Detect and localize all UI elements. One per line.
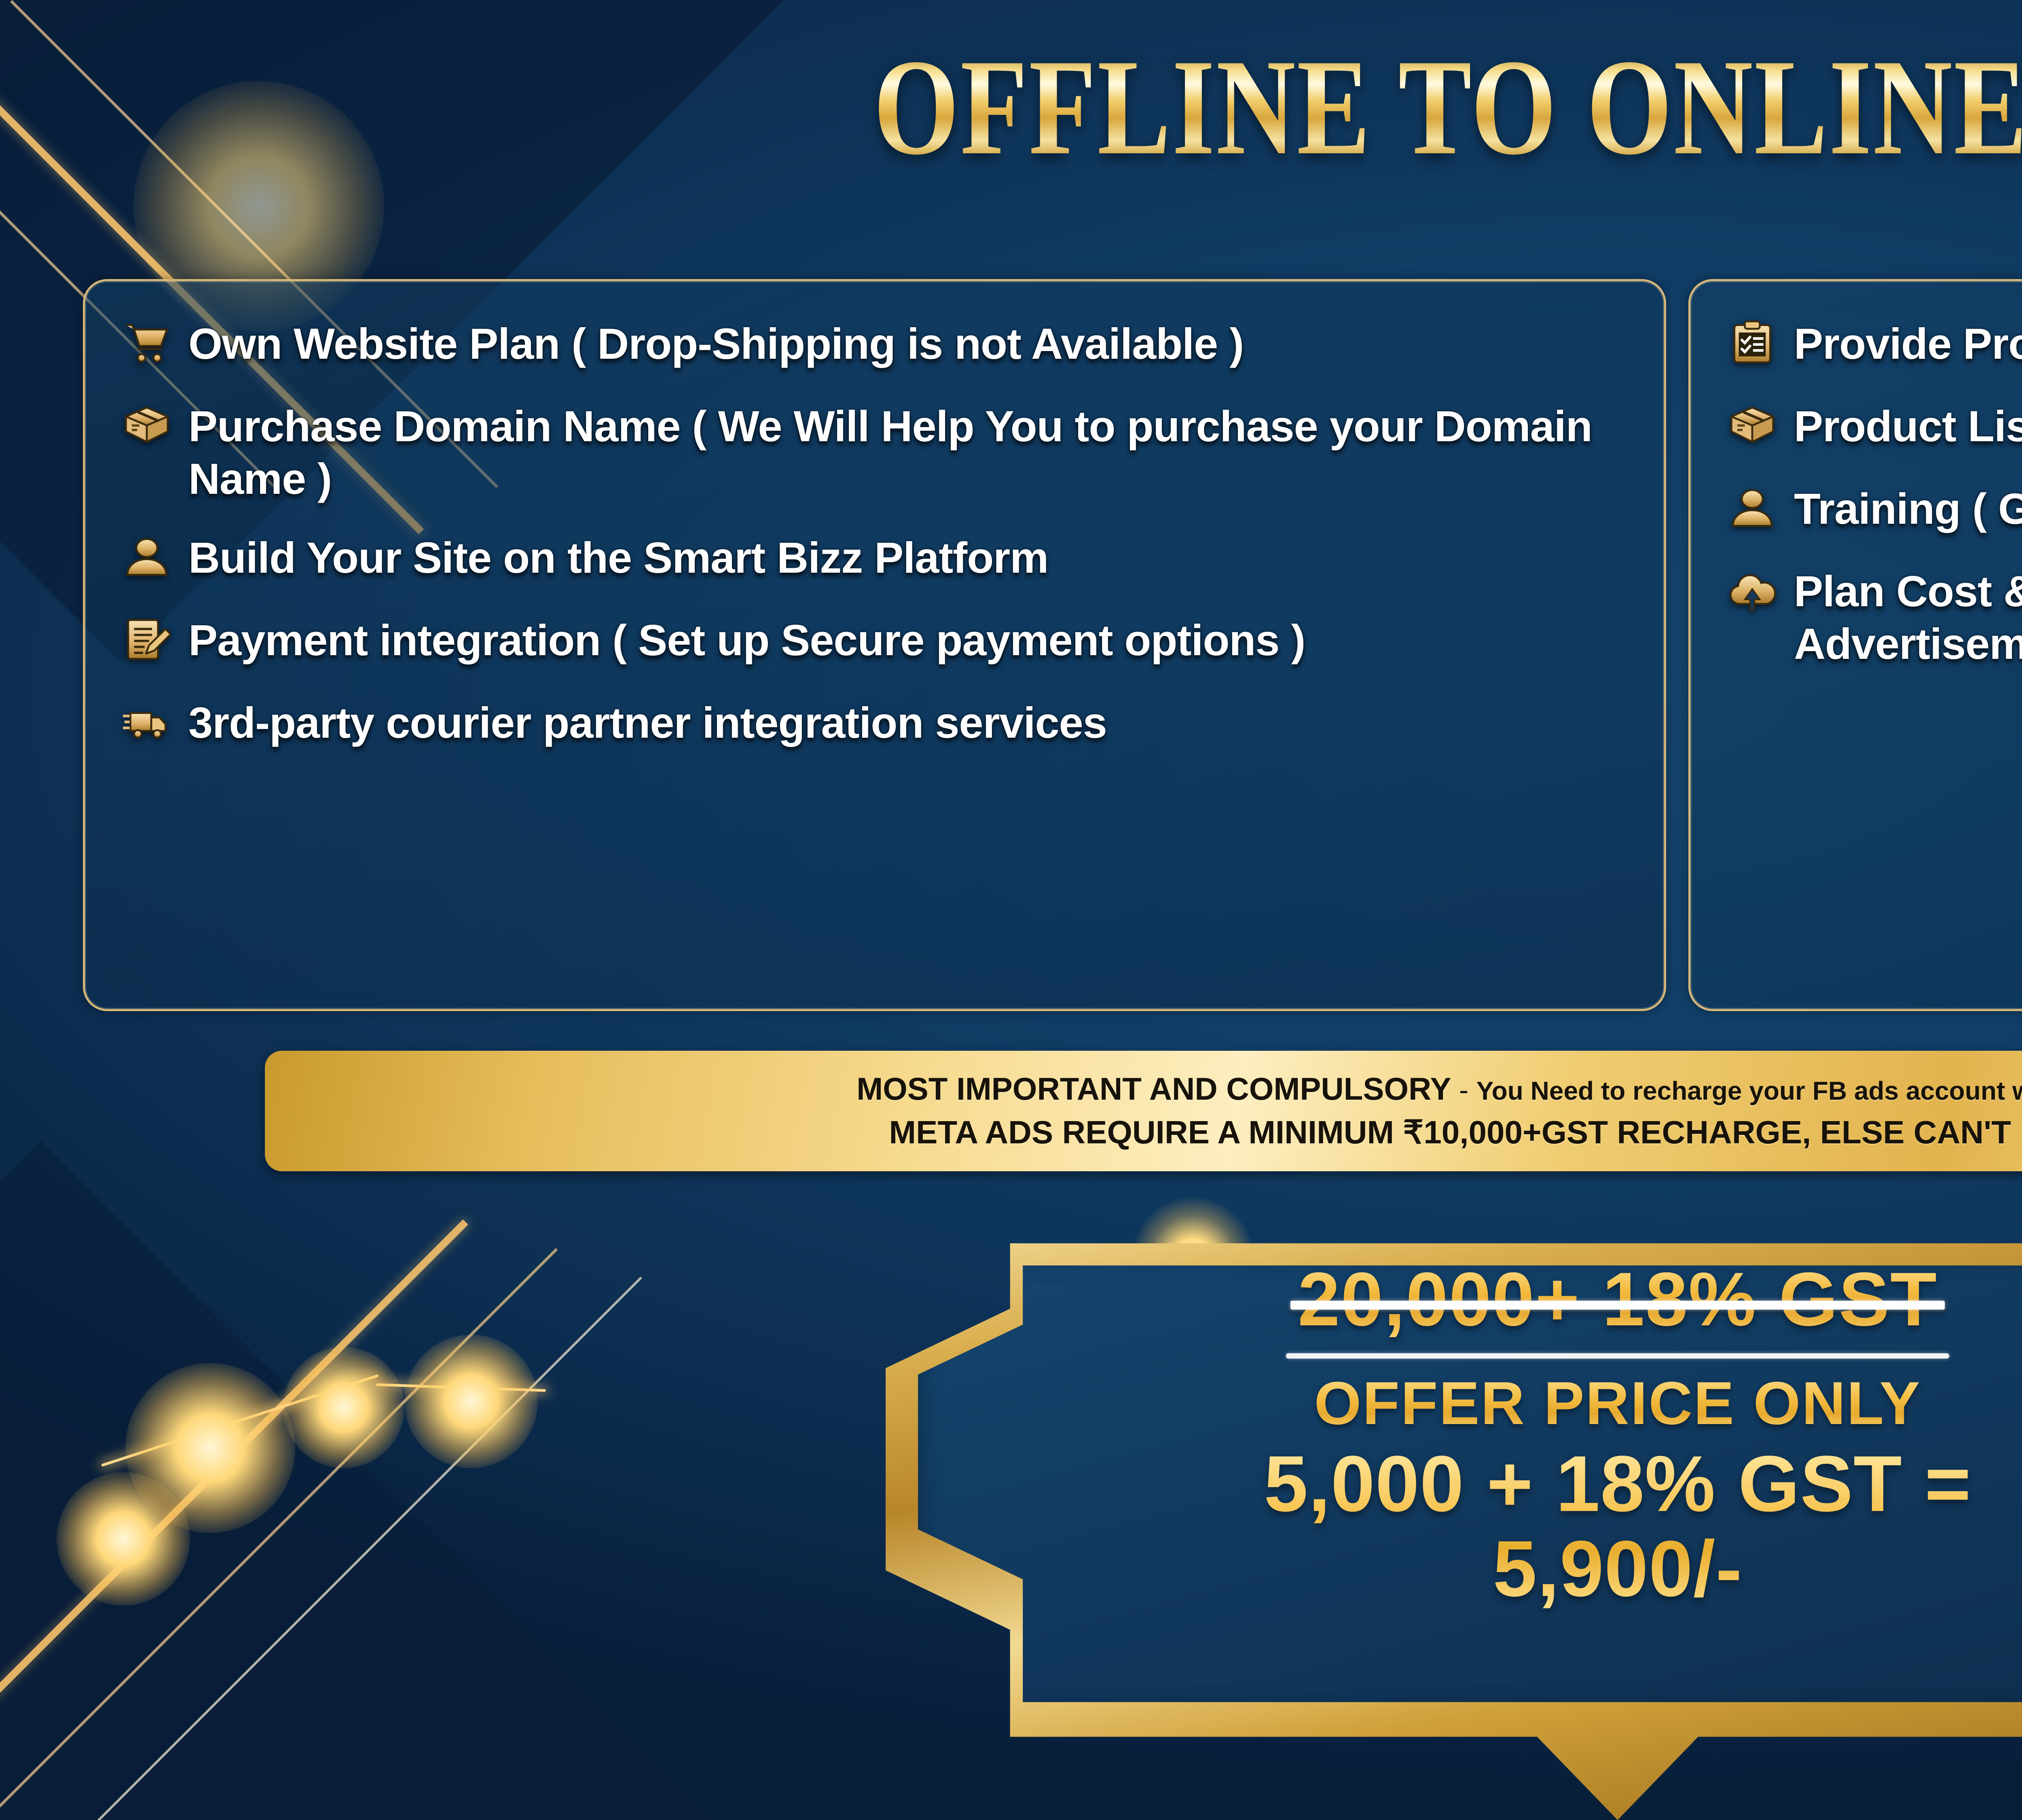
- list-item-label: Payment integration ( Set up Secure paym…: [188, 609, 1305, 667]
- clipboard-checklist-icon: [1722, 313, 1783, 373]
- offer-price-label: OFFER PRICE ONLY: [1314, 1368, 1921, 1438]
- badge-content: 20,000+ 18% GST OFFER PRICE ONLY 5,000 +…: [886, 1225, 2022, 1820]
- delivery-truck-icon: [116, 692, 177, 752]
- offer-amount: 5,000 + 18% GST = 5,900/-: [1264, 1441, 1971, 1611]
- offer-amount-line-2: 5,900/-: [1264, 1526, 1971, 1611]
- list-item: Training ( Get training for adding more …: [1722, 478, 2022, 538]
- price-badge: 20,000+ 18% GST OFFER PRICE ONLY 5,000 +…: [886, 1225, 2022, 1820]
- page-title: OFFLINE TO ONLINE PLAN: [874, 38, 2022, 176]
- important-notice-banner: MOST IMPORTANT AND COMPULSORY - You Need…: [265, 1051, 2022, 1171]
- badge-divider: [1286, 1353, 1949, 1359]
- strikethrough-line: [1290, 1301, 1945, 1310]
- notice-rest: You Need to recharge your FB ads account…: [1476, 1076, 2022, 1105]
- cloud-upload-icon: [1722, 560, 1783, 621]
- list-item-label: Own Website Plan ( Drop-Shipping is not …: [188, 313, 1244, 370]
- page-title-wrapper: OFFLINE TO ONLINE PLAN: [0, 38, 2022, 176]
- user-person-icon: [1722, 478, 1783, 538]
- list-item-label: Product Listing ( We will List 20 produc…: [1794, 395, 2022, 453]
- list-item: Purchase Domain Name ( We Will Help You …: [116, 395, 1636, 505]
- old-price-value: 20,000+ 18% GST: [1298, 1257, 1937, 1342]
- features-panel-left: Own Website Plan ( Drop-Shipping is not …: [83, 279, 1666, 1011]
- list-item-label: Provide Product Info ( Client provides p…: [1794, 313, 2022, 370]
- notice-line-1: MOST IMPORTANT AND COMPULSORY - You Need…: [857, 1071, 2022, 1107]
- old-price-wrapper: 20,000+ 18% GST: [1298, 1255, 1937, 1343]
- list-item: Payment integration ( Set up Secure paym…: [116, 609, 1636, 670]
- list-item: Provide Product Info ( Client provides p…: [1722, 313, 2022, 373]
- offer-amount-line-1: 5,000 + 18% GST =: [1264, 1441, 1971, 1526]
- list-item-label: Training ( Get training for adding more …: [1794, 478, 2022, 535]
- list-item-label: 3rd-party courier partner integration se…: [188, 692, 1107, 749]
- list-item-label: Plan Cost & Ads ( 5,000+ tax ( Plan Fee …: [1794, 560, 2022, 670]
- list-item-label: Purchase Domain Name ( We Will Help You …: [188, 395, 1636, 505]
- list-item: Own Website Plan ( Drop-Shipping is not …: [116, 313, 1636, 373]
- user-person-icon: [116, 527, 177, 587]
- package-box-icon: [1722, 395, 1783, 456]
- feature-list-right: Provide Product Info ( Client provides p…: [1690, 281, 2022, 670]
- list-item: Build Your Site on the Smart Bizz Platfo…: [116, 527, 1636, 587]
- list-item: 3rd-party courier partner integration se…: [116, 692, 1636, 752]
- shopping-cart-icon: [116, 313, 177, 373]
- list-item: Product Listing ( We will List 20 produc…: [1722, 395, 2022, 456]
- package-box-icon: [116, 395, 177, 456]
- list-item-label: Build Your Site on the Smart Bizz Platfo…: [188, 527, 1048, 584]
- list-item: Plan Cost & Ads ( 5,000+ tax ( Plan Fee …: [1722, 560, 2022, 670]
- feature-list-left: Own Website Plan ( Drop-Shipping is not …: [85, 281, 1664, 752]
- document-pencil-icon: [116, 609, 177, 670]
- notice-line-2: META ADS REQUIRE A MINIMUM ₹10,000+GST R…: [889, 1113, 2022, 1151]
- notice-strong: MOST IMPORTANT AND COMPULSORY: [857, 1071, 1451, 1107]
- notice-dash: -: [1451, 1074, 1476, 1106]
- features-panel-right: Provide Product Info ( Client provides p…: [1688, 279, 2022, 1011]
